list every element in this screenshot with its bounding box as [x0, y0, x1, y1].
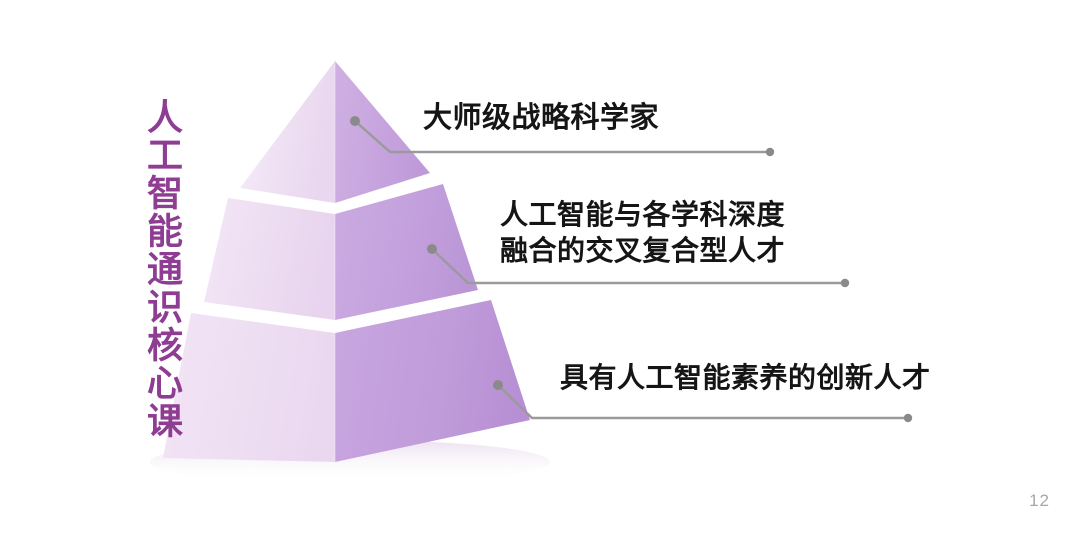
tier-2-label: 人工智能与各学科深度融合的交叉复合型人才 [500, 197, 785, 269]
pyramid-tier-1-left-face [240, 61, 335, 203]
tier-1-label: 大师级战略科学家 [423, 100, 659, 137]
connector-dot-end-tier-1 [766, 148, 774, 156]
pyramid-tier-1-right-face [335, 61, 430, 203]
slide-canvas: 人工智能通识核心课 大师级战略科学家 人工智能与各学科深度融合的交叉复合型人才 … [0, 0, 1080, 533]
tier-2-label-line-2: 融合的交叉复合型人才 [500, 235, 785, 266]
tier-3-label: 具有人工智能素养的创新人才 [560, 360, 931, 396]
vertical-course-title: 人工智能通识核心课 [128, 98, 180, 440]
connector-dot-start-tier-3 [493, 380, 503, 390]
tier-2-label-line-1: 人工智能与各学科深度 [500, 199, 785, 230]
pyramid-tier-2-right-face [335, 184, 478, 320]
page-number: 12 [1029, 491, 1050, 511]
connector-dot-start-tier-2 [427, 244, 437, 254]
connector-dot-start-tier-1 [350, 116, 360, 126]
connector-dot-end-tier-2 [841, 279, 849, 287]
pyramid-tier-2-left-face [204, 198, 335, 320]
pyramid-tier-3-left-face [163, 313, 335, 462]
connector-dot-end-tier-3 [904, 414, 912, 422]
